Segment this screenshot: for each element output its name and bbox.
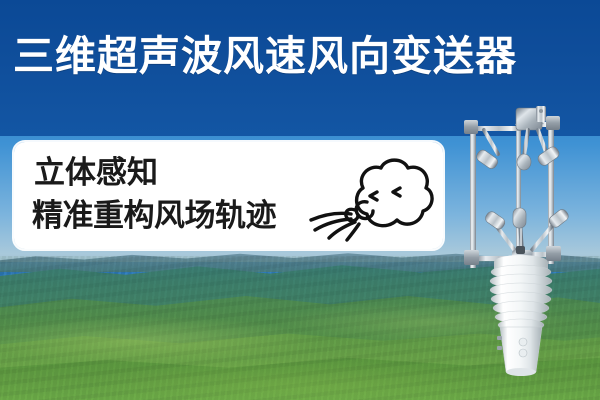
callout-line-1: 立体感知 (34, 157, 158, 188)
page-title: 三维超声波风速风向变送器 (13, 36, 593, 77)
sensor-housing (497, 327, 542, 376)
product-banner: 三维超声波风速风向变送器 (0, 0, 600, 400)
callout-inner: 立体感知 精准重构风场轨迹 (16, 144, 441, 247)
lower-transducers (484, 208, 571, 252)
top-hub (516, 106, 546, 130)
callout-box: 立体感知 精准重构风场轨迹 (14, 142, 443, 249)
product-image-ultrasonic-anemometer (440, 100, 600, 390)
blowing-cloud-icon (307, 154, 437, 244)
callout-line-2: 精准重构风场轨迹 (32, 200, 276, 231)
radiation-shield (490, 255, 552, 331)
